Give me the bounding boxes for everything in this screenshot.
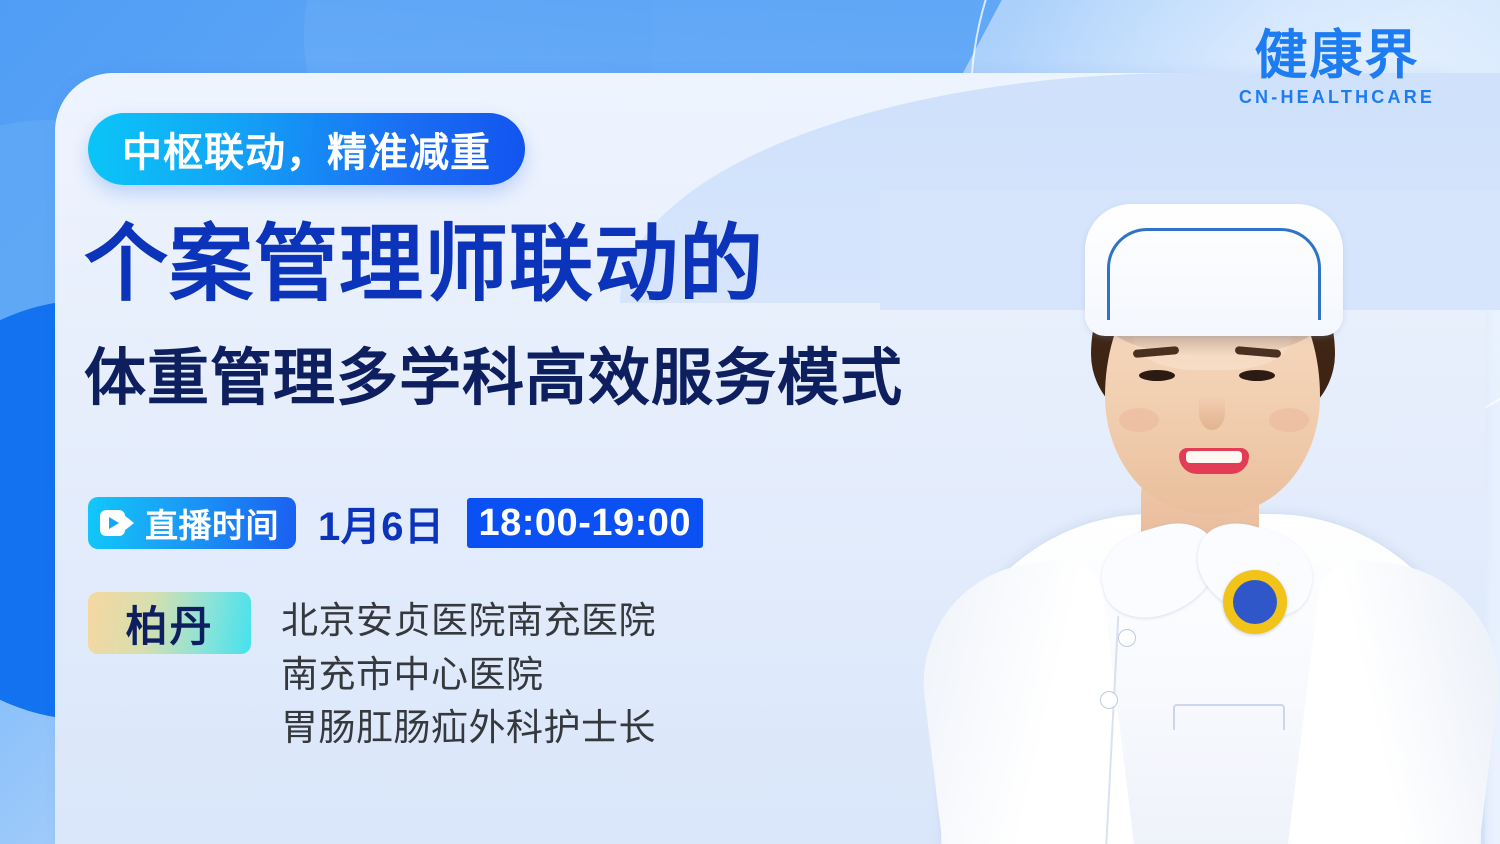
portrait-eye-right	[1239, 370, 1275, 381]
portrait-button	[1101, 692, 1117, 708]
speaker-block: 柏丹 北京安贞医院南充医院 南充市中心医院 胃肠肛肠疝外科护士长	[88, 592, 656, 755]
portrait-teeth	[1186, 451, 1242, 463]
live-date: 1月6日	[318, 494, 445, 552]
nurse-cap-trim	[1107, 228, 1321, 320]
speaker-affiliations: 北京安贞医院南充医院 南充市中心医院 胃肠肛肠疝外科护士长	[281, 592, 656, 755]
portrait-cheek-right	[1269, 408, 1309, 432]
hospital-emblem-icon	[1223, 570, 1287, 634]
portrait-eye-left	[1139, 370, 1175, 381]
portrait-nose	[1199, 396, 1225, 430]
speaker-name-badge: 柏丹	[88, 592, 251, 654]
speaker-portrait	[905, 96, 1500, 844]
topic-badge-label: 中枢联动，精准减重	[122, 120, 491, 178]
live-time-row: 直播时间 1月6日 18:00-19:00	[88, 494, 703, 552]
live-time-box: 18:00-19:00	[467, 498, 704, 548]
speaker-affiliation-line: 北京安贞医院南充医院	[281, 594, 656, 648]
speaker-affiliation-line: 南充市中心医院	[281, 648, 656, 702]
portrait-shoulder-right	[1288, 556, 1500, 844]
topic-badge: 中枢联动，精准减重	[88, 113, 525, 185]
portrait-chest-pocket	[1173, 704, 1285, 730]
speaker-affiliation-line: 胃肠肛肠疝外科护士长	[281, 701, 656, 755]
brand-logo-cn: 健康界	[1232, 28, 1442, 83]
speaker-name: 柏丹	[125, 593, 213, 654]
page-title-line1: 个案管理师联动的	[84, 222, 764, 306]
portrait-button	[1119, 630, 1135, 646]
live-time-label: 直播时间	[145, 499, 279, 547]
live-time-range: 18:00-19:00	[479, 502, 692, 545]
portrait-cheek-left	[1119, 408, 1159, 432]
webinar-poster: 健康界 CN-HEALTHCARE 中枢联动，精准减重 个案管理师联动的 体重管…	[0, 0, 1500, 844]
live-time-chip: 直播时间	[88, 497, 296, 549]
page-title-line2: 体重管理多学科高效服务模式	[84, 348, 903, 410]
video-camera-icon	[100, 510, 134, 536]
